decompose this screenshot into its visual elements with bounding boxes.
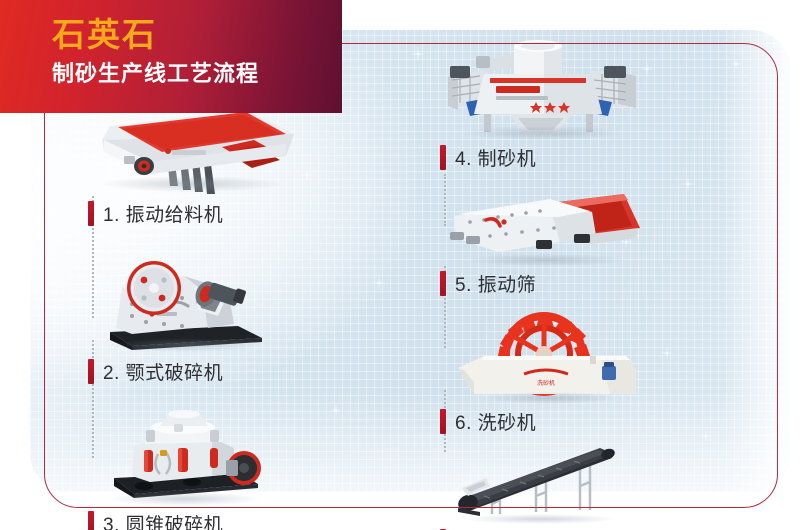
- header-banner-text: 石英石 制砂生产线工艺流程: [52, 13, 259, 91]
- board-right-fade: [720, 30, 790, 492]
- step-marker-bar: [440, 145, 446, 170]
- flow-step-3[interactable]: 3. 圆锥破碎机: [88, 406, 348, 530]
- step-label-text: 3. 圆锥破碎机: [103, 510, 223, 530]
- step-label-text: 5. 振动筛: [455, 270, 536, 297]
- step-label-3[interactable]: 3. 圆锥破碎机: [88, 508, 348, 530]
- step-label-text: 6. 洗砂机: [455, 408, 536, 435]
- header-banner: 石英石 制砂生产线工艺流程: [0, 0, 342, 113]
- flow-column-left: 1. 振动给料机: [88, 104, 348, 530]
- step-marker-bar: [88, 359, 94, 384]
- svg-text:洗砂机: 洗砂机: [537, 379, 555, 387]
- banner-title: 石英石: [52, 13, 259, 57]
- flow-step-5[interactable]: 5. 振动筛: [440, 190, 720, 298]
- flow-step-1[interactable]: 1. 振动给料机: [88, 104, 348, 228]
- flow-step-7[interactable]: 7. 输送机: [440, 448, 720, 530]
- step-label-2[interactable]: 2. 颚式破碎机: [88, 356, 348, 386]
- step-label-text: 2. 颚式破碎机: [103, 358, 223, 385]
- step-label-4[interactable]: 4. 制砂机: [440, 142, 720, 172]
- jaw-crusher-icon: [88, 250, 348, 354]
- step-label-5[interactable]: 5. 振动筛: [440, 268, 720, 298]
- step-label-7[interactable]: 7. 输送机: [440, 526, 720, 530]
- step-label-text: 4. 制砂机: [455, 144, 536, 171]
- sand-making-machine-icon: [440, 40, 720, 140]
- belt-conveyor-icon: [440, 448, 720, 524]
- flow-column-right: 4. 制砂机: [440, 40, 720, 530]
- flow-step-2[interactable]: 2. 颚式破碎机: [88, 250, 348, 386]
- flow-step-6[interactable]: 洗砂机 6. 洗砂机: [440, 312, 720, 436]
- step-marker-bar: [440, 271, 446, 296]
- step-label-text: 1. 振动给料机: [103, 200, 223, 227]
- quartz-sand-production-line-infographic: 1. 振动给料机: [0, 0, 800, 530]
- flow-step-4[interactable]: 4. 制砂机: [440, 40, 720, 172]
- cone-crusher-icon: [88, 406, 348, 506]
- step-label-1[interactable]: 1. 振动给料机: [88, 198, 348, 228]
- sand-washer-icon: 洗砂机: [440, 312, 720, 404]
- step-marker-bar: [88, 201, 94, 226]
- banner-subtitle: 制砂生产线工艺流程: [52, 57, 259, 91]
- step-label-6[interactable]: 6. 洗砂机: [440, 406, 720, 436]
- vibrating-screen-icon: [440, 190, 720, 266]
- step-marker-bar: [440, 409, 446, 434]
- step-marker-bar: [88, 511, 94, 530]
- vibrating-feeder-icon: [88, 104, 348, 196]
